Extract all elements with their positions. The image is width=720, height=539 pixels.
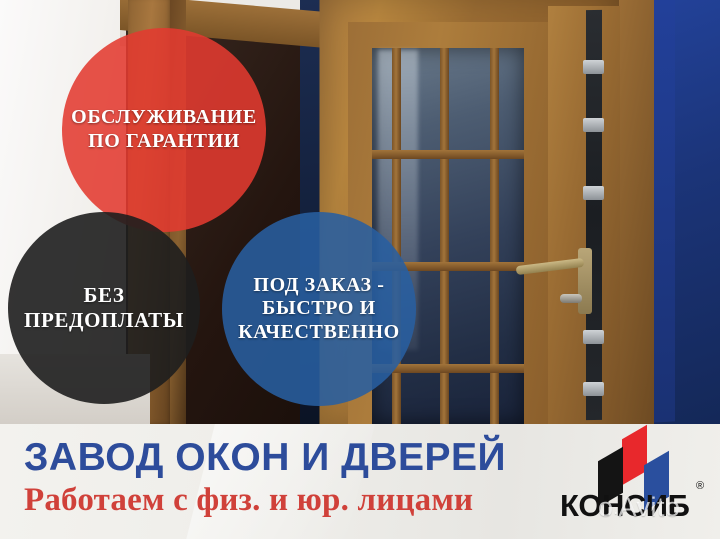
advertisement-image: ОБСЛУЖИВАНИЕ ПО ГАРАНТИИ ПОД ЗАКАЗ - БЫС… <box>0 0 720 539</box>
bubble-line: ПРЕДОПЛАТЫ <box>24 308 184 333</box>
benefit-bubble-warranty: ОБСЛУЖИВАНИЕ ПО ГАРАНТИИ <box>62 28 266 232</box>
bubble-line: КАЧЕСТВЕННО <box>238 321 400 345</box>
lock-fitting <box>583 382 604 396</box>
door-lock-cylinder <box>560 294 582 303</box>
benefit-bubble-made-to-order: ПОД ЗАКАЗ - БЫСТРО И КАЧЕСТВЕННО <box>222 212 416 406</box>
lock-fitting <box>583 118 604 132</box>
lock-fitting <box>583 186 604 200</box>
lock-fitting <box>583 60 604 74</box>
muntin-horizontal <box>372 150 524 159</box>
banner-subline: Работаем с физ. и юр. лицами <box>24 483 544 518</box>
logo-wordmark: КОНСИБ <box>560 488 689 524</box>
bubble-line: БЕЗ <box>24 283 184 308</box>
registered-trademark-icon: ® <box>696 480 704 492</box>
lock-fitting <box>583 330 604 344</box>
banner-text-block: ЗАВОД ОКОН И ДВЕРЕЙ Работаем с физ. и юр… <box>24 438 544 518</box>
bubble-line: БЫСТРО И <box>238 297 400 321</box>
bottom-banner: ЗАВОД ОКОН И ДВЕРЕЙ Работаем с физ. и юр… <box>0 424 720 539</box>
bubble-line: ОБСЛУЖИВАНИЕ <box>71 106 257 130</box>
bubble-line: ПО ГАРАНТИИ <box>71 130 257 154</box>
banner-headline: ЗАВОД ОКОН И ДВЕРЕЙ <box>24 438 544 479</box>
company-logo: КОНСИБ ® <box>560 432 710 536</box>
logo-mark-icon <box>584 432 684 494</box>
bubble-line: ПОД ЗАКАЗ - <box>238 274 400 298</box>
benefit-bubble-no-prepayment: БЕЗ ПРЕДОПЛАТЫ <box>8 212 200 404</box>
second-door-leaf <box>614 0 654 424</box>
